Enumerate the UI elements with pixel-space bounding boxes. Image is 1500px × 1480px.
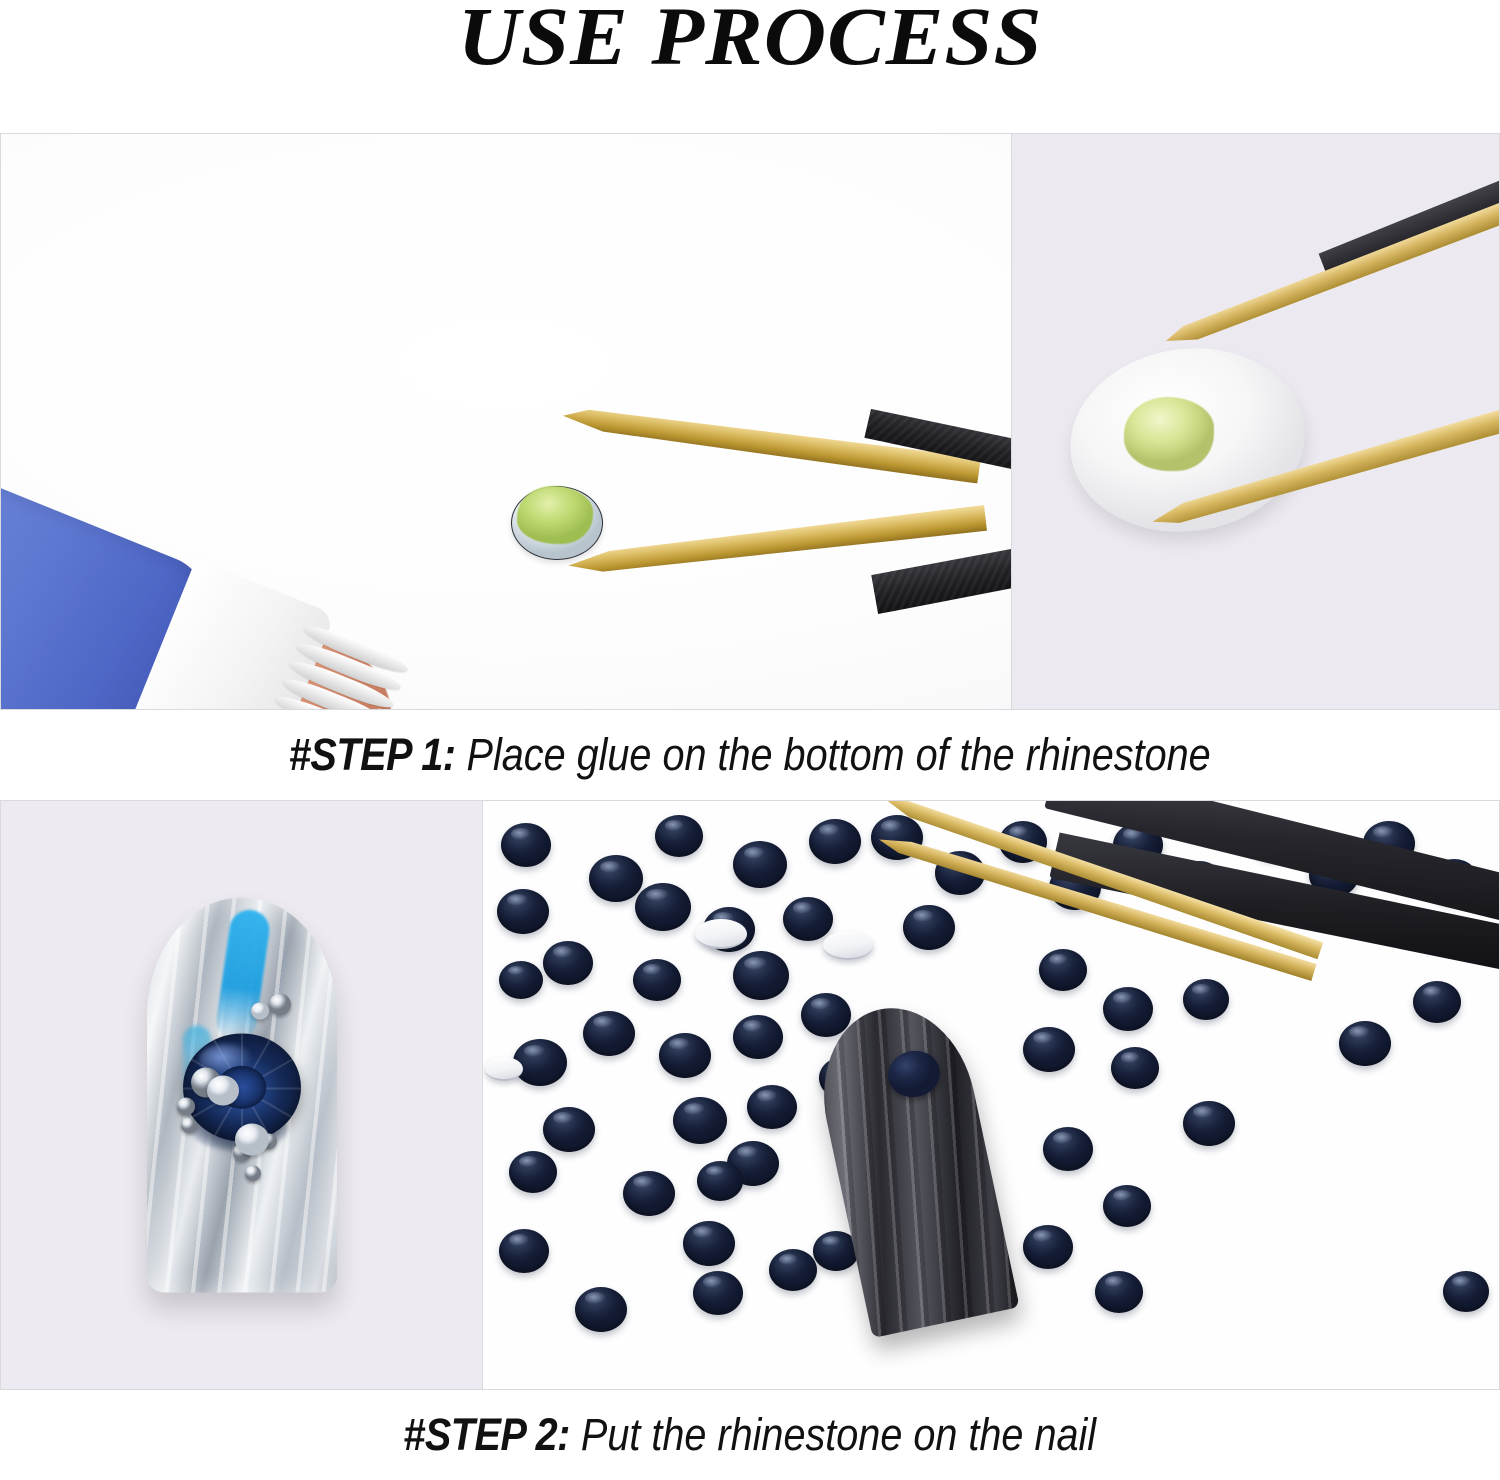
scatter-background <box>483 801 1499 1389</box>
step-2-panel-row <box>0 800 1500 1390</box>
small-clear-crystal <box>207 1076 239 1106</box>
rhinestone-flat-back <box>695 919 747 949</box>
small-clear-crystal <box>235 1124 269 1156</box>
small-clear-crystal <box>251 1003 269 1020</box>
step-1-block: G R <box>0 133 1500 800</box>
silver-bead <box>181 1118 197 1134</box>
step-2-block: #STEP 2: Put the rhinestone on the nail <box>0 800 1500 1480</box>
step-1-label: #STEP 1: <box>289 729 456 780</box>
glue-application-photo: G R <box>1 134 1011 709</box>
step-2-label: #STEP 2: <box>404 1409 571 1460</box>
rhinestone-flat-back <box>485 1057 523 1081</box>
silver-bead <box>269 994 291 1016</box>
step-2-caption: #STEP 2: Put the rhinestone on the nail <box>0 1390 1500 1480</box>
green-glue-drop <box>517 486 593 544</box>
step-1-caption: #STEP 1: Place glue on the bottom of the… <box>0 710 1500 800</box>
glue-drop-closeup-photo <box>1011 134 1499 709</box>
coffin-nail <box>147 898 337 1293</box>
rhinestone-scatter-photo <box>482 801 1499 1389</box>
silver-bead <box>245 1166 261 1182</box>
step-2-text: Put the rhinestone on the nail <box>570 1409 1096 1460</box>
step-1-text: Place glue on the bottom of the rhinesto… <box>456 729 1211 780</box>
page-header: USE PROCESS <box>0 0 1500 133</box>
black-nail-tip <box>806 994 1019 1338</box>
step-1-panel-row: G R <box>0 133 1500 710</box>
finished-nail-photo <box>1 801 482 1389</box>
page-title: USE PROCESS <box>458 0 1043 79</box>
rhinestone-flat-back <box>823 931 873 960</box>
green-glue-drop-closeup <box>1124 397 1214 471</box>
silver-bead <box>177 1098 195 1116</box>
